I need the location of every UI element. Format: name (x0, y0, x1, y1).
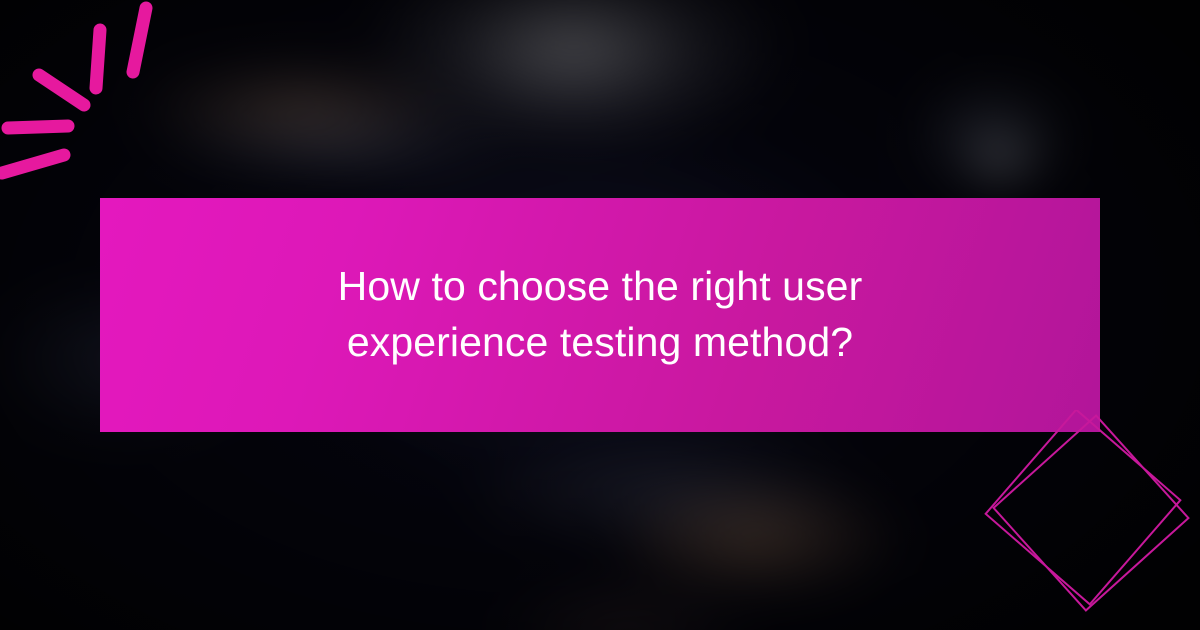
share-card: How to choose the right user experience … (0, 0, 1200, 630)
sparkle-burst-icon (0, 0, 200, 180)
page-title: How to choose the right user experience … (250, 259, 950, 371)
overlapping-squares-outline-icon (970, 410, 1200, 630)
headline-banner: How to choose the right user experience … (100, 198, 1100, 432)
